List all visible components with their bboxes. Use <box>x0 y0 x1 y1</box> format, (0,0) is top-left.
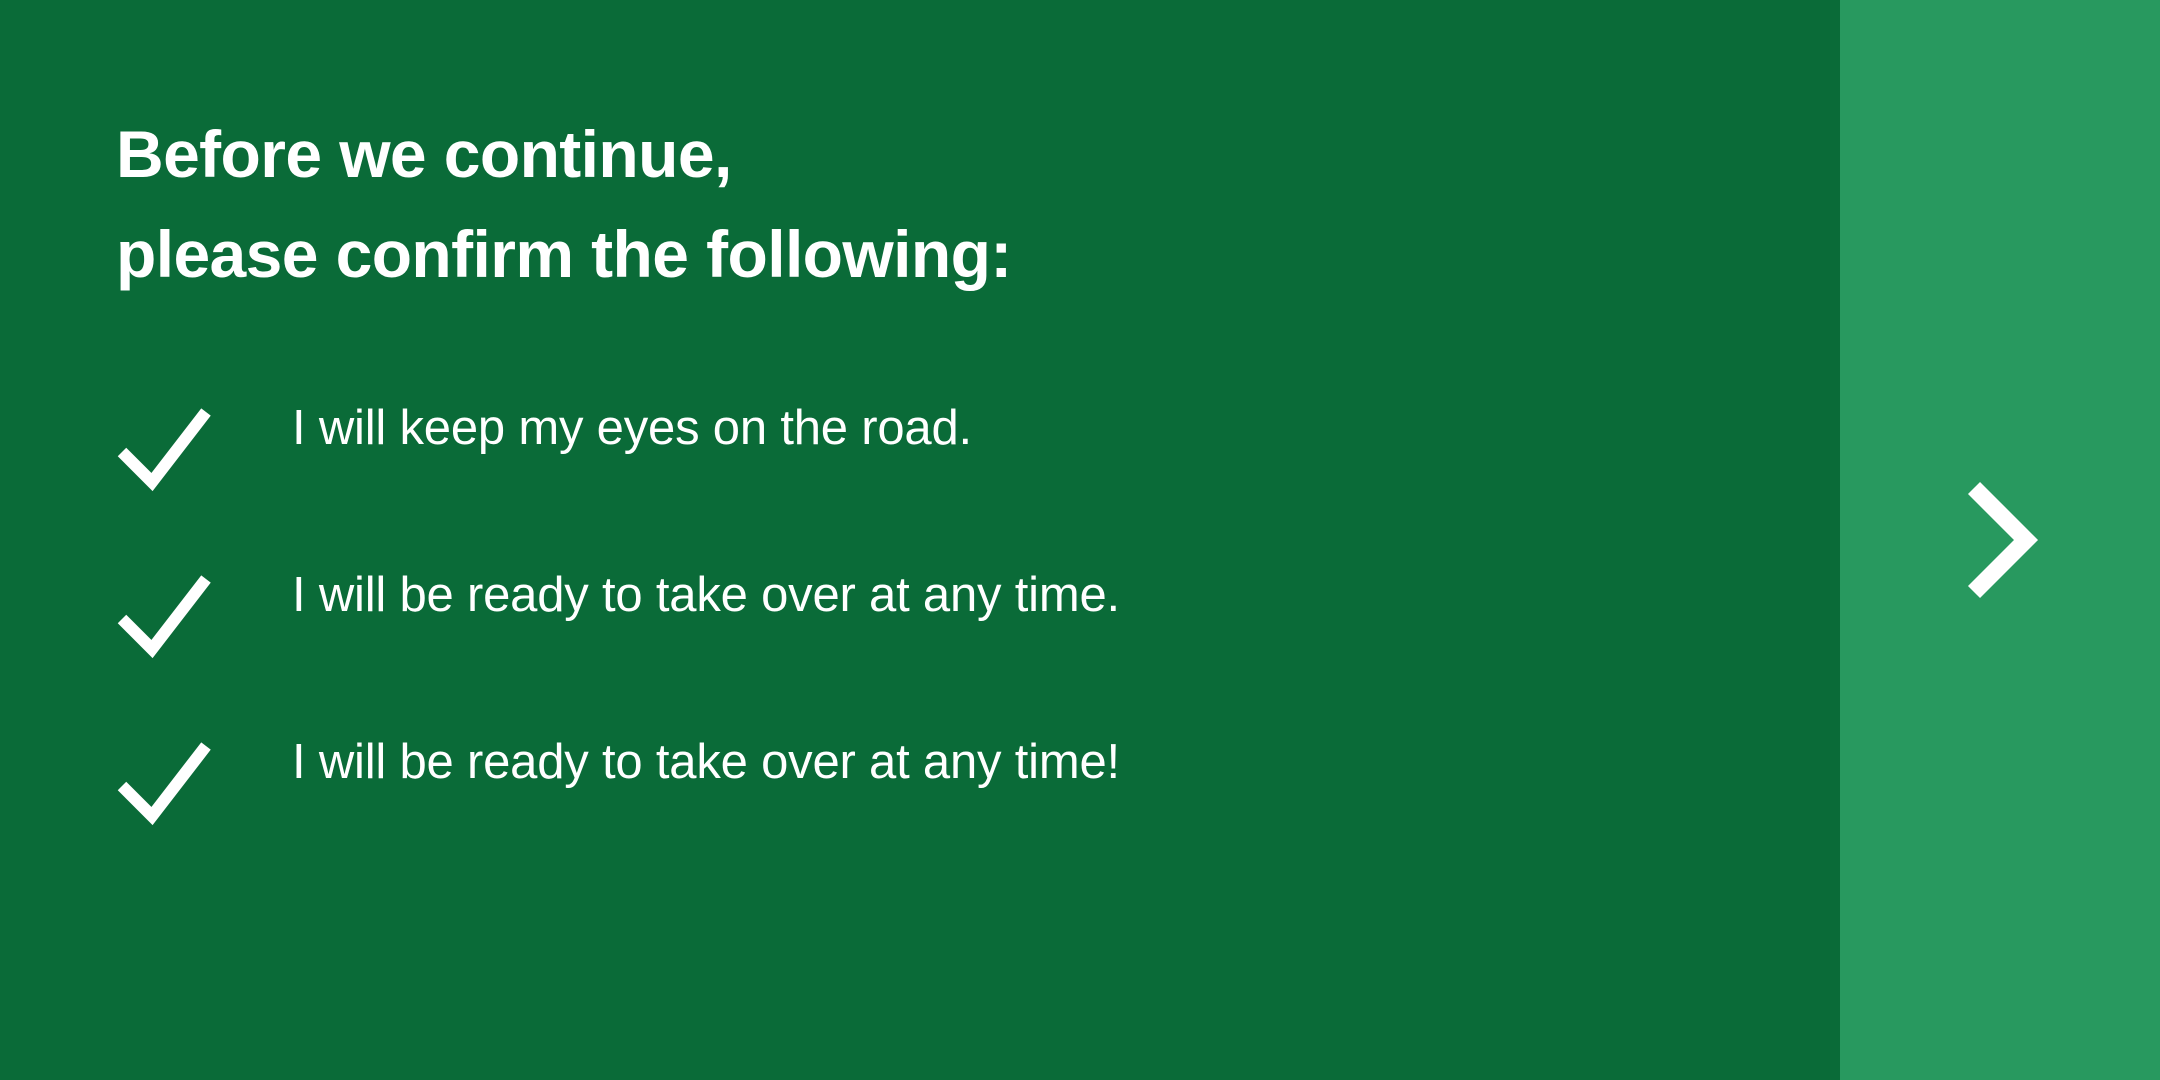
confirmation-screen: Before we continue, please confirm the f… <box>0 0 2160 1080</box>
checklist-item-label: I will be ready to take over at any time… <box>292 730 1120 794</box>
check-icon <box>116 402 212 494</box>
checklist-item[interactable]: I will keep my eyes on the road. <box>116 388 1736 555</box>
check-icon <box>116 736 212 828</box>
checklist-item[interactable]: I will be ready to take over at any time… <box>116 555 1736 722</box>
chevron-right-icon <box>1960 480 2040 600</box>
checklist-item-label: I will keep my eyes on the road. <box>292 396 972 460</box>
next-button[interactable] <box>1930 450 2070 630</box>
page-title-line-1: Before we continue, <box>116 104 1616 204</box>
checklist-item[interactable]: I will be ready to take over at any time… <box>116 722 1736 889</box>
page-title-line-2: please confirm the following: <box>116 204 1616 304</box>
check-icon <box>116 569 212 661</box>
confirmation-checklist: I will keep my eyes on the road. I will … <box>116 388 1736 889</box>
page-title: Before we continue, please confirm the f… <box>116 104 1616 304</box>
checklist-item-label: I will be ready to take over at any time… <box>292 563 1120 627</box>
